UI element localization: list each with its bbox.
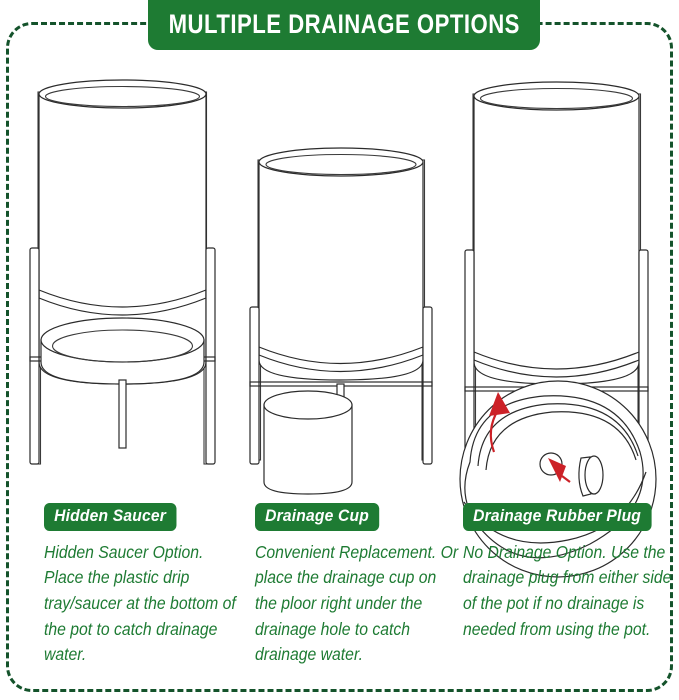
hidden-saucer-tray — [41, 318, 204, 384]
illustration-row — [8, 62, 671, 497]
caption-drainage-cup: Drainage Cup Convenient Replacement. Or … — [255, 503, 460, 668]
drainage-cup — [264, 391, 352, 494]
planter-pot — [474, 82, 639, 384]
caption-row: Hidden Saucer Hidden Saucer Option. Plac… — [0, 503, 679, 683]
option-description-drainage-rubber-plug: No Drainage Option. Use the drainage plu… — [463, 540, 675, 643]
page-title: MULTIPLE DRAINAGE OPTIONS — [168, 6, 519, 38]
caption-hidden-saucer: Hidden Saucer Hidden Saucer Option. Plac… — [44, 503, 244, 668]
illustration-drainage-rubber-plug — [440, 62, 671, 497]
rubber-plug — [579, 456, 603, 496]
header-banner: MULTIPLE DRAINAGE OPTIONS — [148, 0, 540, 50]
illustration-drainage-cup — [226, 62, 454, 497]
caption-drainage-rubber-plug: Drainage Rubber Plug No Drainage Option.… — [463, 503, 673, 642]
planter-pot — [259, 148, 423, 380]
illustration-hidden-saucer — [8, 62, 236, 497]
center-post-lower — [119, 380, 126, 448]
option-label-drainage-rubber-plug: Drainage Rubber Plug — [463, 503, 651, 531]
option-description-drainage-cup: Convenient Replacement. Or place the dra… — [255, 540, 462, 669]
option-description-hidden-saucer: Hidden Saucer Option. Place the plastic … — [44, 540, 246, 669]
option-label-drainage-cup: Drainage Cup — [255, 503, 379, 531]
option-label-hidden-saucer: Hidden Saucer — [44, 503, 176, 531]
